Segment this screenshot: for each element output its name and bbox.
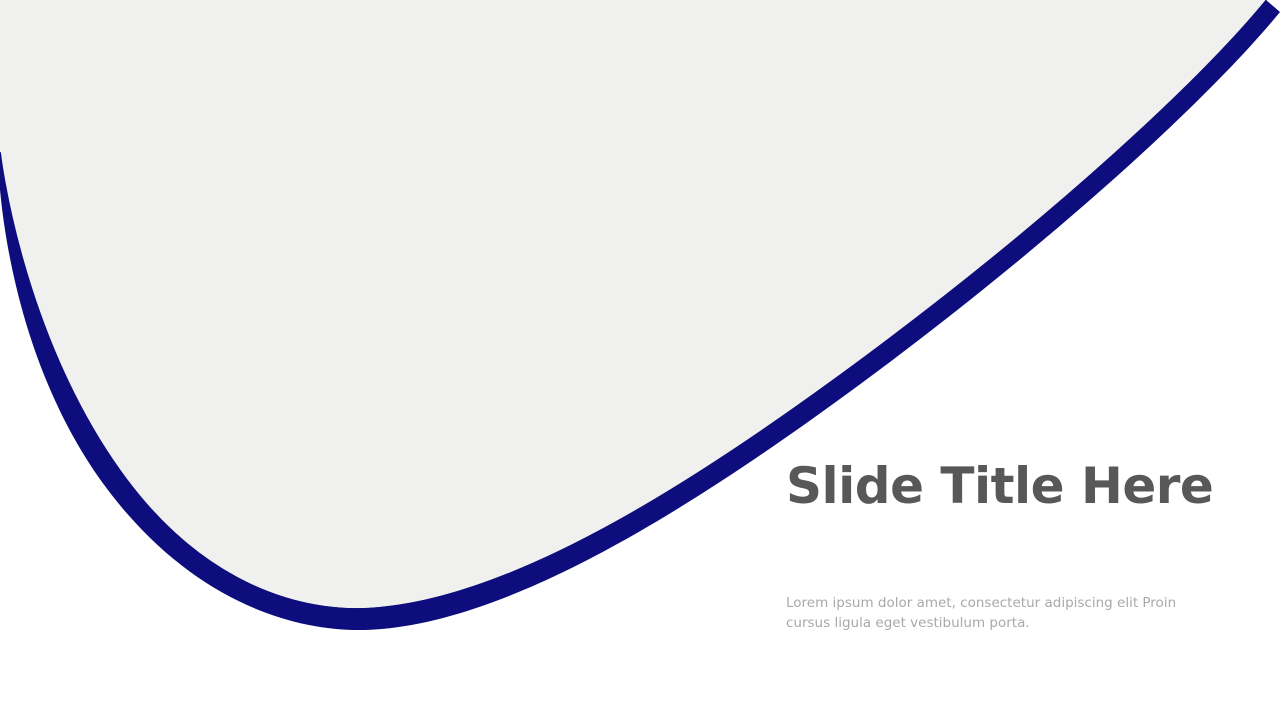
- slide-subtitle: Lorem ipsum dolor amet, consectetur adip…: [786, 594, 1202, 633]
- presentation-slide: Slide Title Here Lorem ipsum dolor amet,…: [0, 0, 1280, 720]
- slide-text-block: Slide Title Here Lorem ipsum dolor amet,…: [786, 460, 1206, 513]
- page-title: Slide Title Here: [786, 460, 1206, 513]
